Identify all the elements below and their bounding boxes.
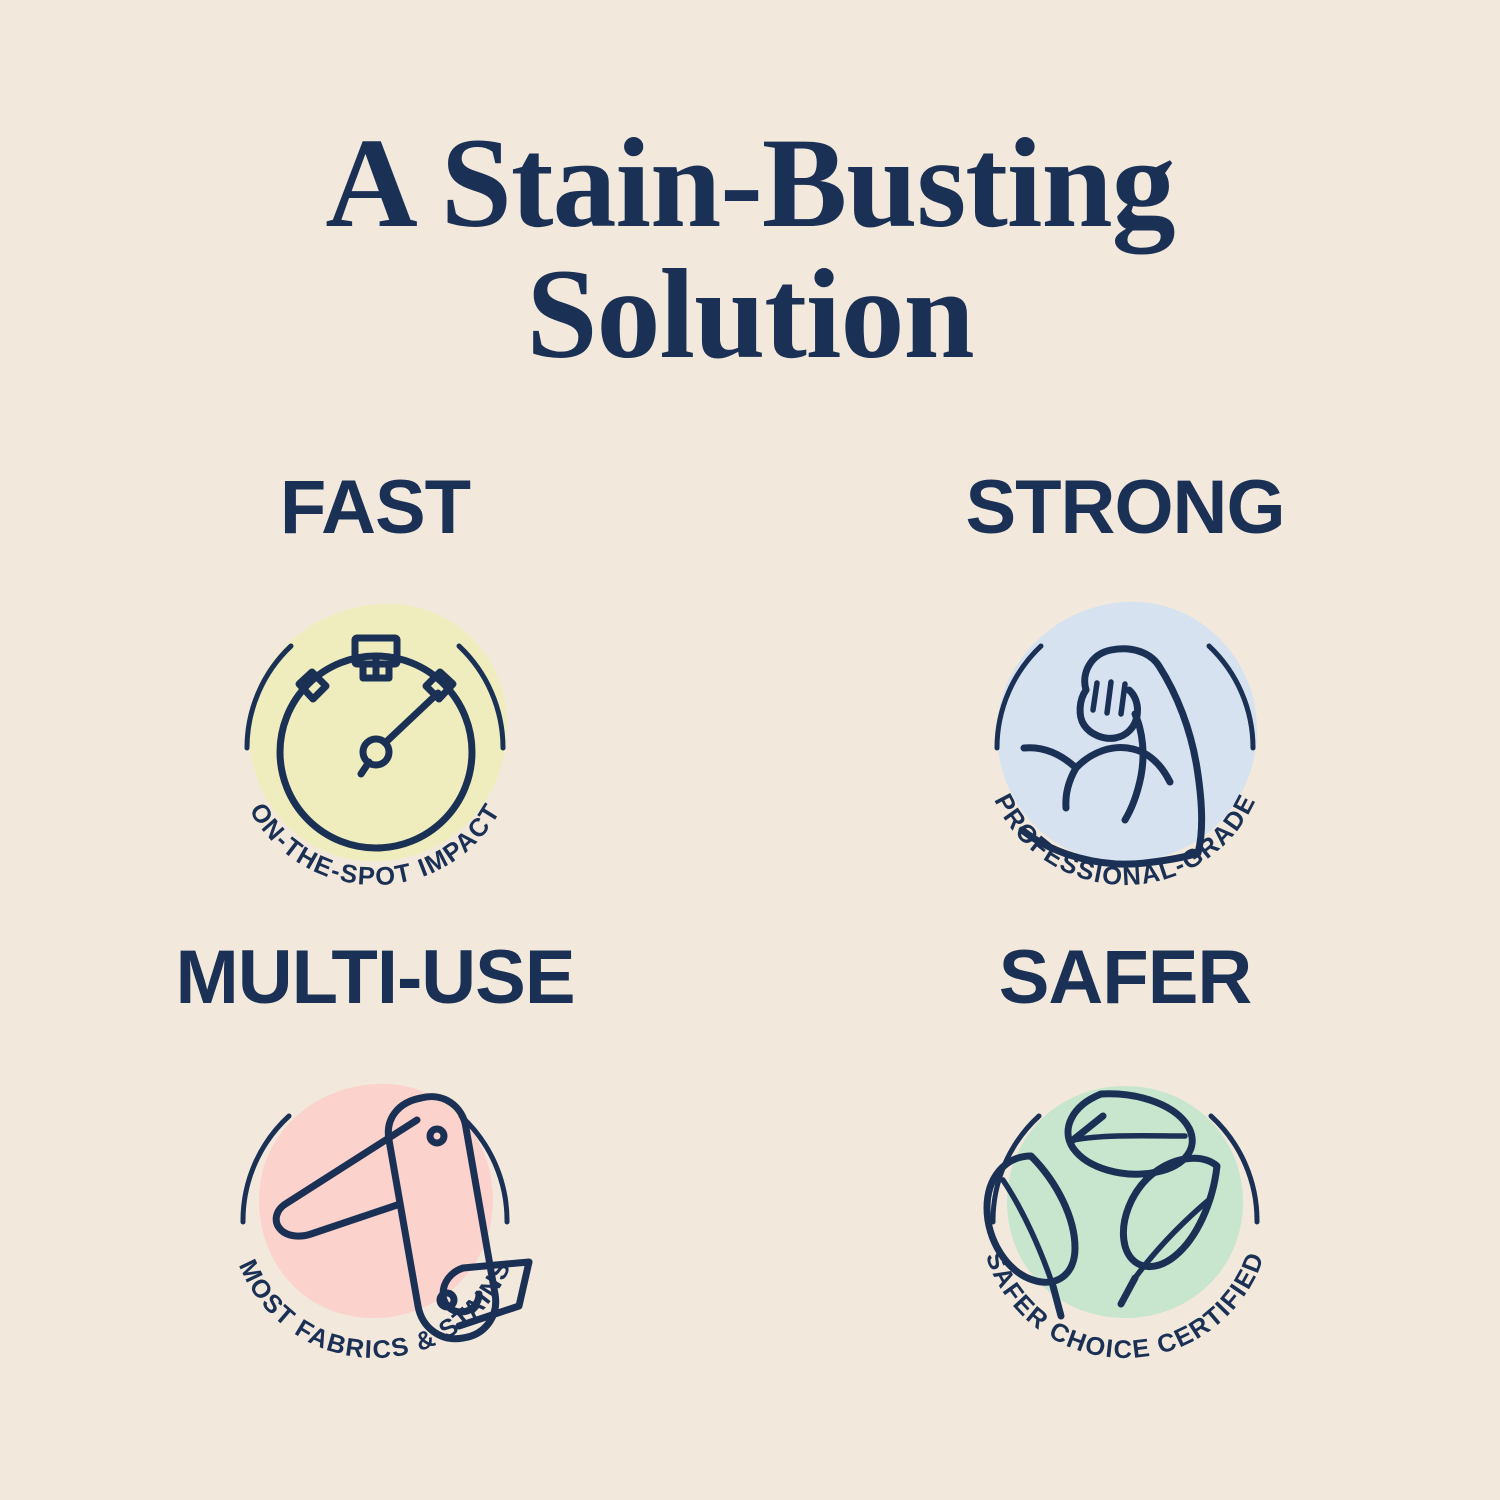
badge-safer: SAFER [915,940,1335,1380]
title-line-2: Solution [0,249,1500,380]
badge-label-safer: SAFER [915,940,1335,1016]
badge-ring-strong: PROFESSIONAL-GRADE [945,562,1305,922]
page-title: A Stain-Busting Solution [0,118,1500,379]
badge-label-fast: FAST [165,470,585,546]
badge-strong: STRONG [915,470,1335,910]
badge-fast: FAST [165,470,585,910]
badge-ring-multi-use: MOST FABRICS & STAINS [195,1032,555,1392]
badge-multi-use: MULTI-USE [165,940,585,1380]
badge-grid: FAST [0,470,1500,1410]
badge-ring-safer: SAFER CHOICE CERTIFIED [945,1032,1305,1392]
badge-label-multi-use: MULTI-USE [165,940,585,1016]
infographic-page: A Stain-Busting Solution FAST [0,0,1500,1500]
badge-label-strong: STRONG [915,470,1335,546]
title-line-1: A Stain-Busting [0,118,1500,249]
badge-ring-fast: ON-THE-SPOT IMPACT [195,562,555,922]
